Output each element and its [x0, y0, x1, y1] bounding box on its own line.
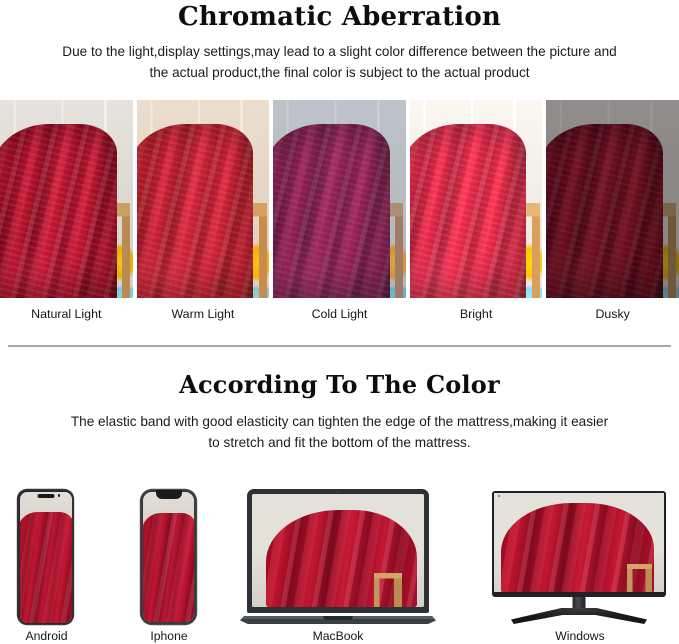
red-blanket: [410, 124, 527, 298]
monitor-bezel: [492, 491, 666, 597]
blanket-scene-photo: [0, 100, 133, 298]
swatch-label-natural-light: Natural Light: [0, 304, 133, 324]
device-label-android: Android: [0, 628, 93, 644]
macbook-lid: [247, 489, 429, 613]
subtitle2-line-2: to stretch and fit the bottom of the mat…: [32, 432, 648, 453]
blanket-scene-photo: [273, 100, 406, 298]
front-camera-icon: [58, 494, 60, 496]
swatch-label-warm-light: Warm Light: [137, 304, 270, 324]
swatch-label-bright: Bright: [410, 304, 543, 324]
subtitle-line-1: Due to the light,display settings,may le…: [62, 44, 616, 59]
lighting-swatch-strip: [0, 100, 679, 298]
monitor-base-stand: [511, 608, 647, 624]
swatch-cold-light: [273, 100, 406, 298]
webcam-icon: [337, 491, 339, 493]
blanket-scene-photo: [546, 100, 679, 298]
device-mockup-iphone: [141, 490, 196, 624]
red-blanket: [137, 124, 254, 298]
subtitle2-line-1: The elastic band with good elasticity ca…: [71, 414, 608, 429]
red-blanket: [143, 513, 194, 622]
swatch-label-dusky: Dusky: [546, 304, 679, 324]
red-blanket: [546, 124, 663, 298]
swatch-bright: [410, 100, 543, 298]
device-label-macbook: MacBook: [272, 628, 404, 644]
swatch-label-row: Natural Light Warm Light Cold Light Brig…: [0, 304, 679, 324]
monitor-screen: [494, 493, 664, 592]
notch-icon: [156, 490, 182, 499]
swatch-natural-light: [0, 100, 133, 298]
power-led-icon: [498, 495, 500, 497]
iphone-body: [141, 490, 196, 624]
device-mockup-row: [0, 472, 679, 624]
blanket-scene-photo: [410, 100, 543, 298]
device-mockup-macbook: [240, 489, 436, 624]
speaker-pill-icon: [37, 494, 54, 498]
swatch-label-cold-light: Cold Light: [273, 304, 406, 324]
wooden-stool: [374, 573, 402, 607]
chromatic-aberration-title: Chromatic Aberration: [0, 0, 679, 32]
swatch-warm-light: [137, 100, 270, 298]
device-label-iphone: Iphone: [123, 628, 215, 644]
red-blanket: [20, 512, 72, 622]
red-blanket: [273, 124, 390, 298]
according-to-the-color-subtitle: The elastic band with good elasticity ca…: [32, 411, 648, 453]
swatch-dusky: [546, 100, 679, 298]
red-blanket: [0, 124, 117, 298]
chromatic-aberration-subtitle: Due to the light,display settings,may le…: [20, 41, 660, 83]
subtitle-line-2: the actual product,the final color is su…: [20, 62, 660, 83]
iphone-screen: [143, 492, 194, 622]
macbook-screen: [252, 494, 424, 607]
section-divider: [8, 345, 671, 347]
android-phone-screen: [20, 492, 72, 623]
macbook-base: [240, 616, 436, 624]
device-mockup-android: [18, 490, 73, 624]
according-to-the-color-section: According To The Color The elastic band …: [0, 368, 679, 453]
wooden-stool: [627, 564, 653, 592]
according-to-the-color-title: According To The Color: [0, 368, 679, 400]
device-label-windows: Windows: [514, 628, 646, 644]
blanket-scene-photo: [137, 100, 270, 298]
android-phone-body: [18, 490, 73, 624]
device-mockup-windows-monitor: [492, 491, 666, 624]
lid-notch-icon: [323, 616, 353, 620]
